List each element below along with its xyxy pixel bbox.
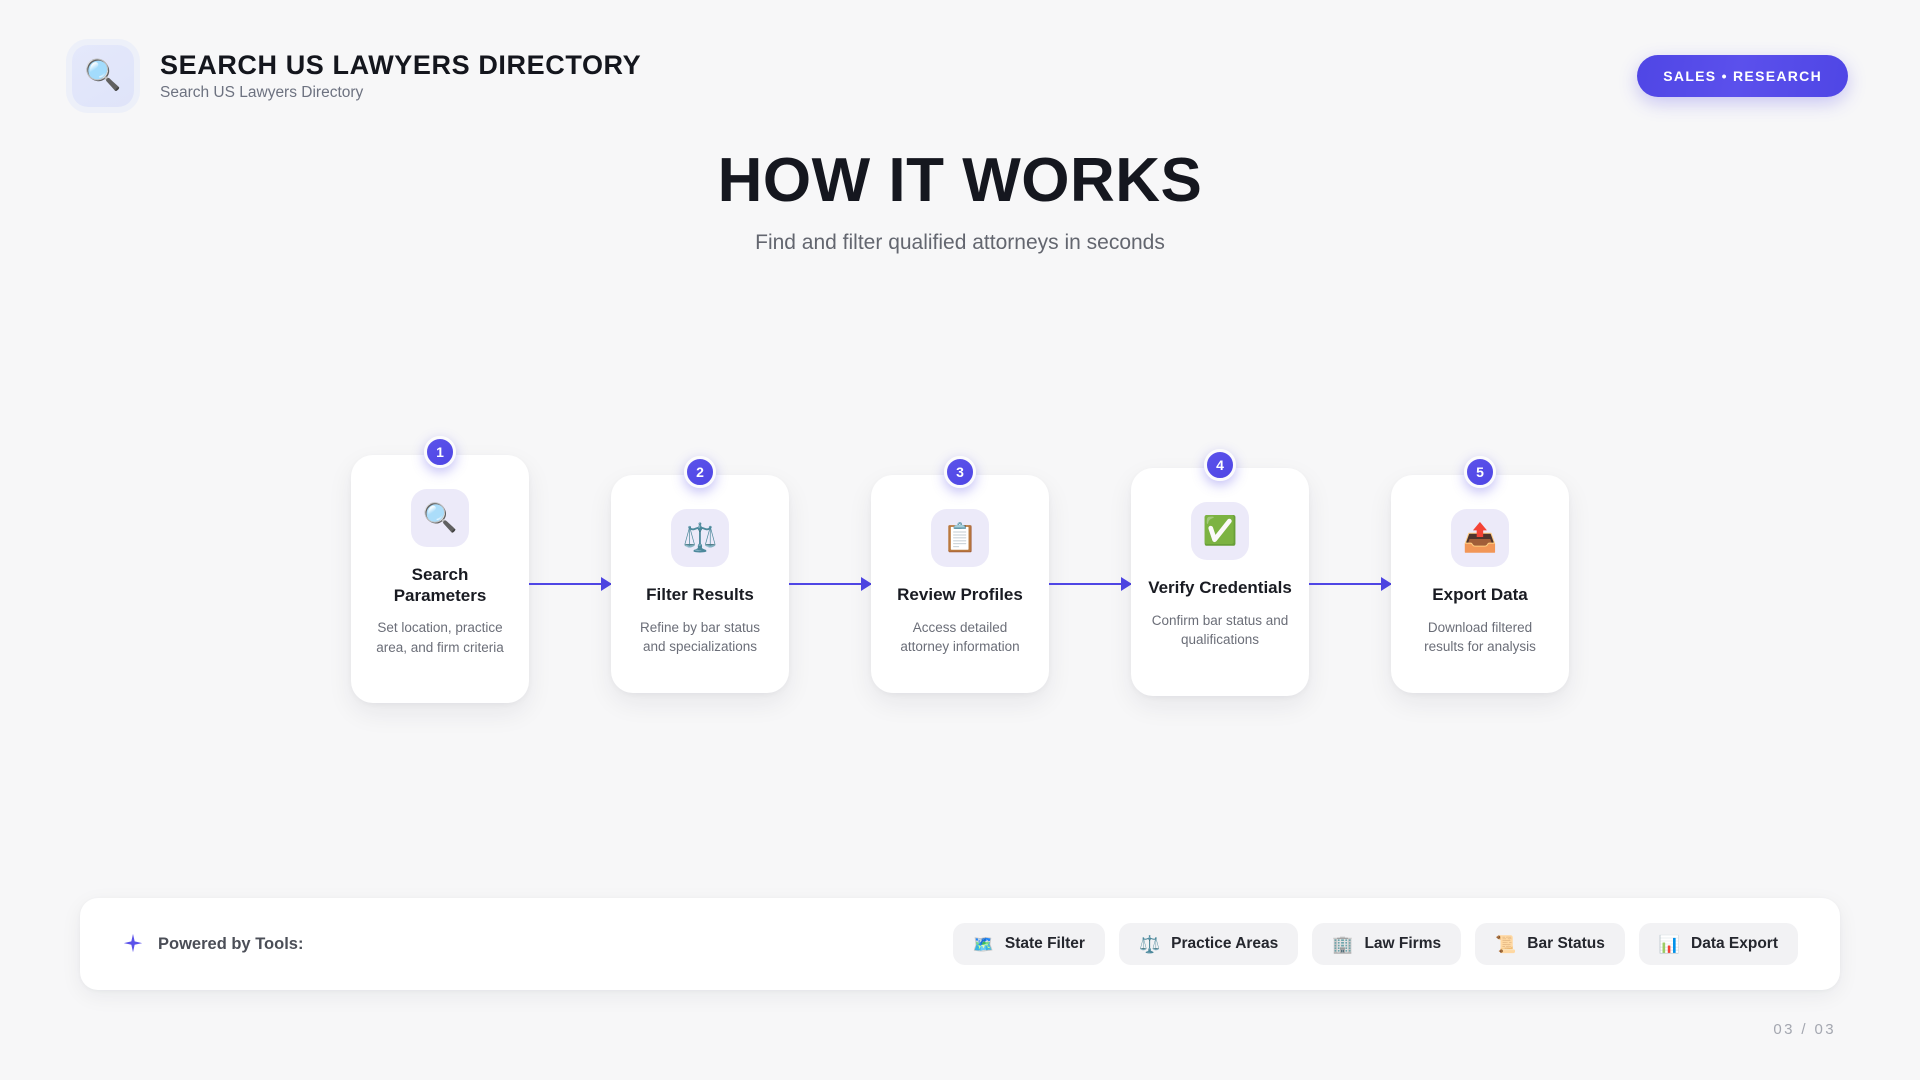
step-icon-glyph: 📋 <box>943 524 978 552</box>
step-number-badge: 4 <box>1204 449 1236 481</box>
step-number-badge: 2 <box>684 456 716 488</box>
powered-by-label: Powered by Tools: <box>158 935 303 954</box>
step-icon-glyph: ⚖️ <box>683 524 718 552</box>
tool-chip-label: Data Export <box>1691 935 1778 953</box>
tool-chip-data-export[interactable]: 📊 Data Export <box>1639 923 1798 965</box>
step-title: Search Parameters <box>367 565 513 606</box>
flow-arrow-1 <box>529 583 611 585</box>
step-card-2: 2 ⚖️ Filter Results Refine by bar status… <box>611 475 789 693</box>
step-number-badge: 1 <box>424 436 456 468</box>
app-logo: 🔍 <box>72 45 134 107</box>
outbox-tray-icon: 📤 <box>1451 509 1509 567</box>
powered-by-block: Powered by Tools: <box>122 933 303 955</box>
tool-chip-state-filter[interactable]: 🗺️ State Filter <box>953 923 1105 965</box>
page-title: SEARCH US LAWYERS DIRECTORY <box>160 50 641 80</box>
step-card-4: 4 ✅ Verify Credentials Confirm bar statu… <box>1131 468 1309 696</box>
page-subtitle: Search US Lawyers Directory <box>160 84 641 102</box>
step-title: Filter Results <box>627 585 773 606</box>
process-flow: 1 🔍 Search Parameters Set location, prac… <box>0 430 1920 730</box>
step-number-badge: 5 <box>1464 456 1496 488</box>
hero-title: HOW IT WORKS <box>0 148 1920 213</box>
step-card-1: 1 🔍 Search Parameters Set location, prac… <box>351 455 529 703</box>
header: 🔍 SEARCH US LAWYERS DIRECTORY Search US … <box>72 40 1848 112</box>
step-title: Review Profiles <box>887 585 1033 606</box>
status-badge: SALES • RESEARCH <box>1637 55 1848 97</box>
step-number-badge: 3 <box>944 456 976 488</box>
step-description: Access detailed attorney information <box>887 618 1033 657</box>
clipboard-icon: 📋 <box>931 509 989 567</box>
slide-root: 🔍 SEARCH US LAWYERS DIRECTORY Search US … <box>0 0 1920 1080</box>
check-mark-button-icon: ✅ <box>1191 502 1249 560</box>
step-title: Verify Credentials <box>1147 578 1293 599</box>
step-icon-glyph: 📤 <box>1463 524 1498 552</box>
tool-chip-bar-status[interactable]: 📜 Bar Status <box>1475 923 1625 965</box>
tool-chip-list: 🗺️ State Filter ⚖️ Practice Areas 🏢 Law … <box>953 923 1798 965</box>
scales-icon: ⚖️ <box>1139 936 1160 953</box>
step-card-5: 5 📤 Export Data Download filtered result… <box>1391 475 1569 693</box>
tool-chip-law-firms[interactable]: 🏢 Law Firms <box>1312 923 1461 965</box>
step-description: Refine by bar status and specializations <box>627 618 773 657</box>
balance-scale-icon: ⚖️ <box>671 509 729 567</box>
flow-arrow-4 <box>1309 583 1391 585</box>
tool-chip-practice-areas[interactable]: ⚖️ Practice Areas <box>1119 923 1298 965</box>
step-icon-glyph: 🔍 <box>423 504 458 532</box>
tool-chip-label: Bar Status <box>1527 935 1605 953</box>
flow-arrow-3 <box>1049 583 1131 585</box>
office-building-icon: 🏢 <box>1332 936 1353 953</box>
magnifying-glass-icon: 🔍 <box>411 489 469 547</box>
flow-arrow-2 <box>789 583 871 585</box>
page-indicator: 03 / 03 <box>1773 1021 1836 1038</box>
tool-chip-label: Law Firms <box>1364 935 1441 953</box>
hero-subtitle: Find and filter qualified attorneys in s… <box>0 231 1920 255</box>
brand-block: SEARCH US LAWYERS DIRECTORY Search US La… <box>160 50 641 102</box>
sparkle-icon <box>122 933 144 955</box>
scroll-icon: 📜 <box>1495 936 1516 953</box>
tool-chip-label: Practice Areas <box>1171 935 1278 953</box>
magnifier-over-us-map-with-scales-icon: 🔍 <box>84 61 121 91</box>
step-description: Confirm bar status and qualifications <box>1147 611 1293 650</box>
tools-bar: Powered by Tools: 🗺️ State Filter ⚖️ Pra… <box>80 898 1840 990</box>
tool-chip-label: State Filter <box>1005 935 1085 953</box>
step-description: Set location, practice area, and firm cr… <box>367 618 513 657</box>
map-icon: 🗺️ <box>973 936 994 953</box>
step-card-3: 3 📋 Review Profiles Access detailed atto… <box>871 475 1049 693</box>
step-description: Download filtered results for analysis <box>1407 618 1553 657</box>
hero-block: HOW IT WORKS Find and filter qualified a… <box>0 148 1920 255</box>
bar-chart-icon: 📊 <box>1659 936 1680 953</box>
step-icon-glyph: ✅ <box>1203 517 1238 545</box>
step-title: Export Data <box>1407 585 1553 606</box>
